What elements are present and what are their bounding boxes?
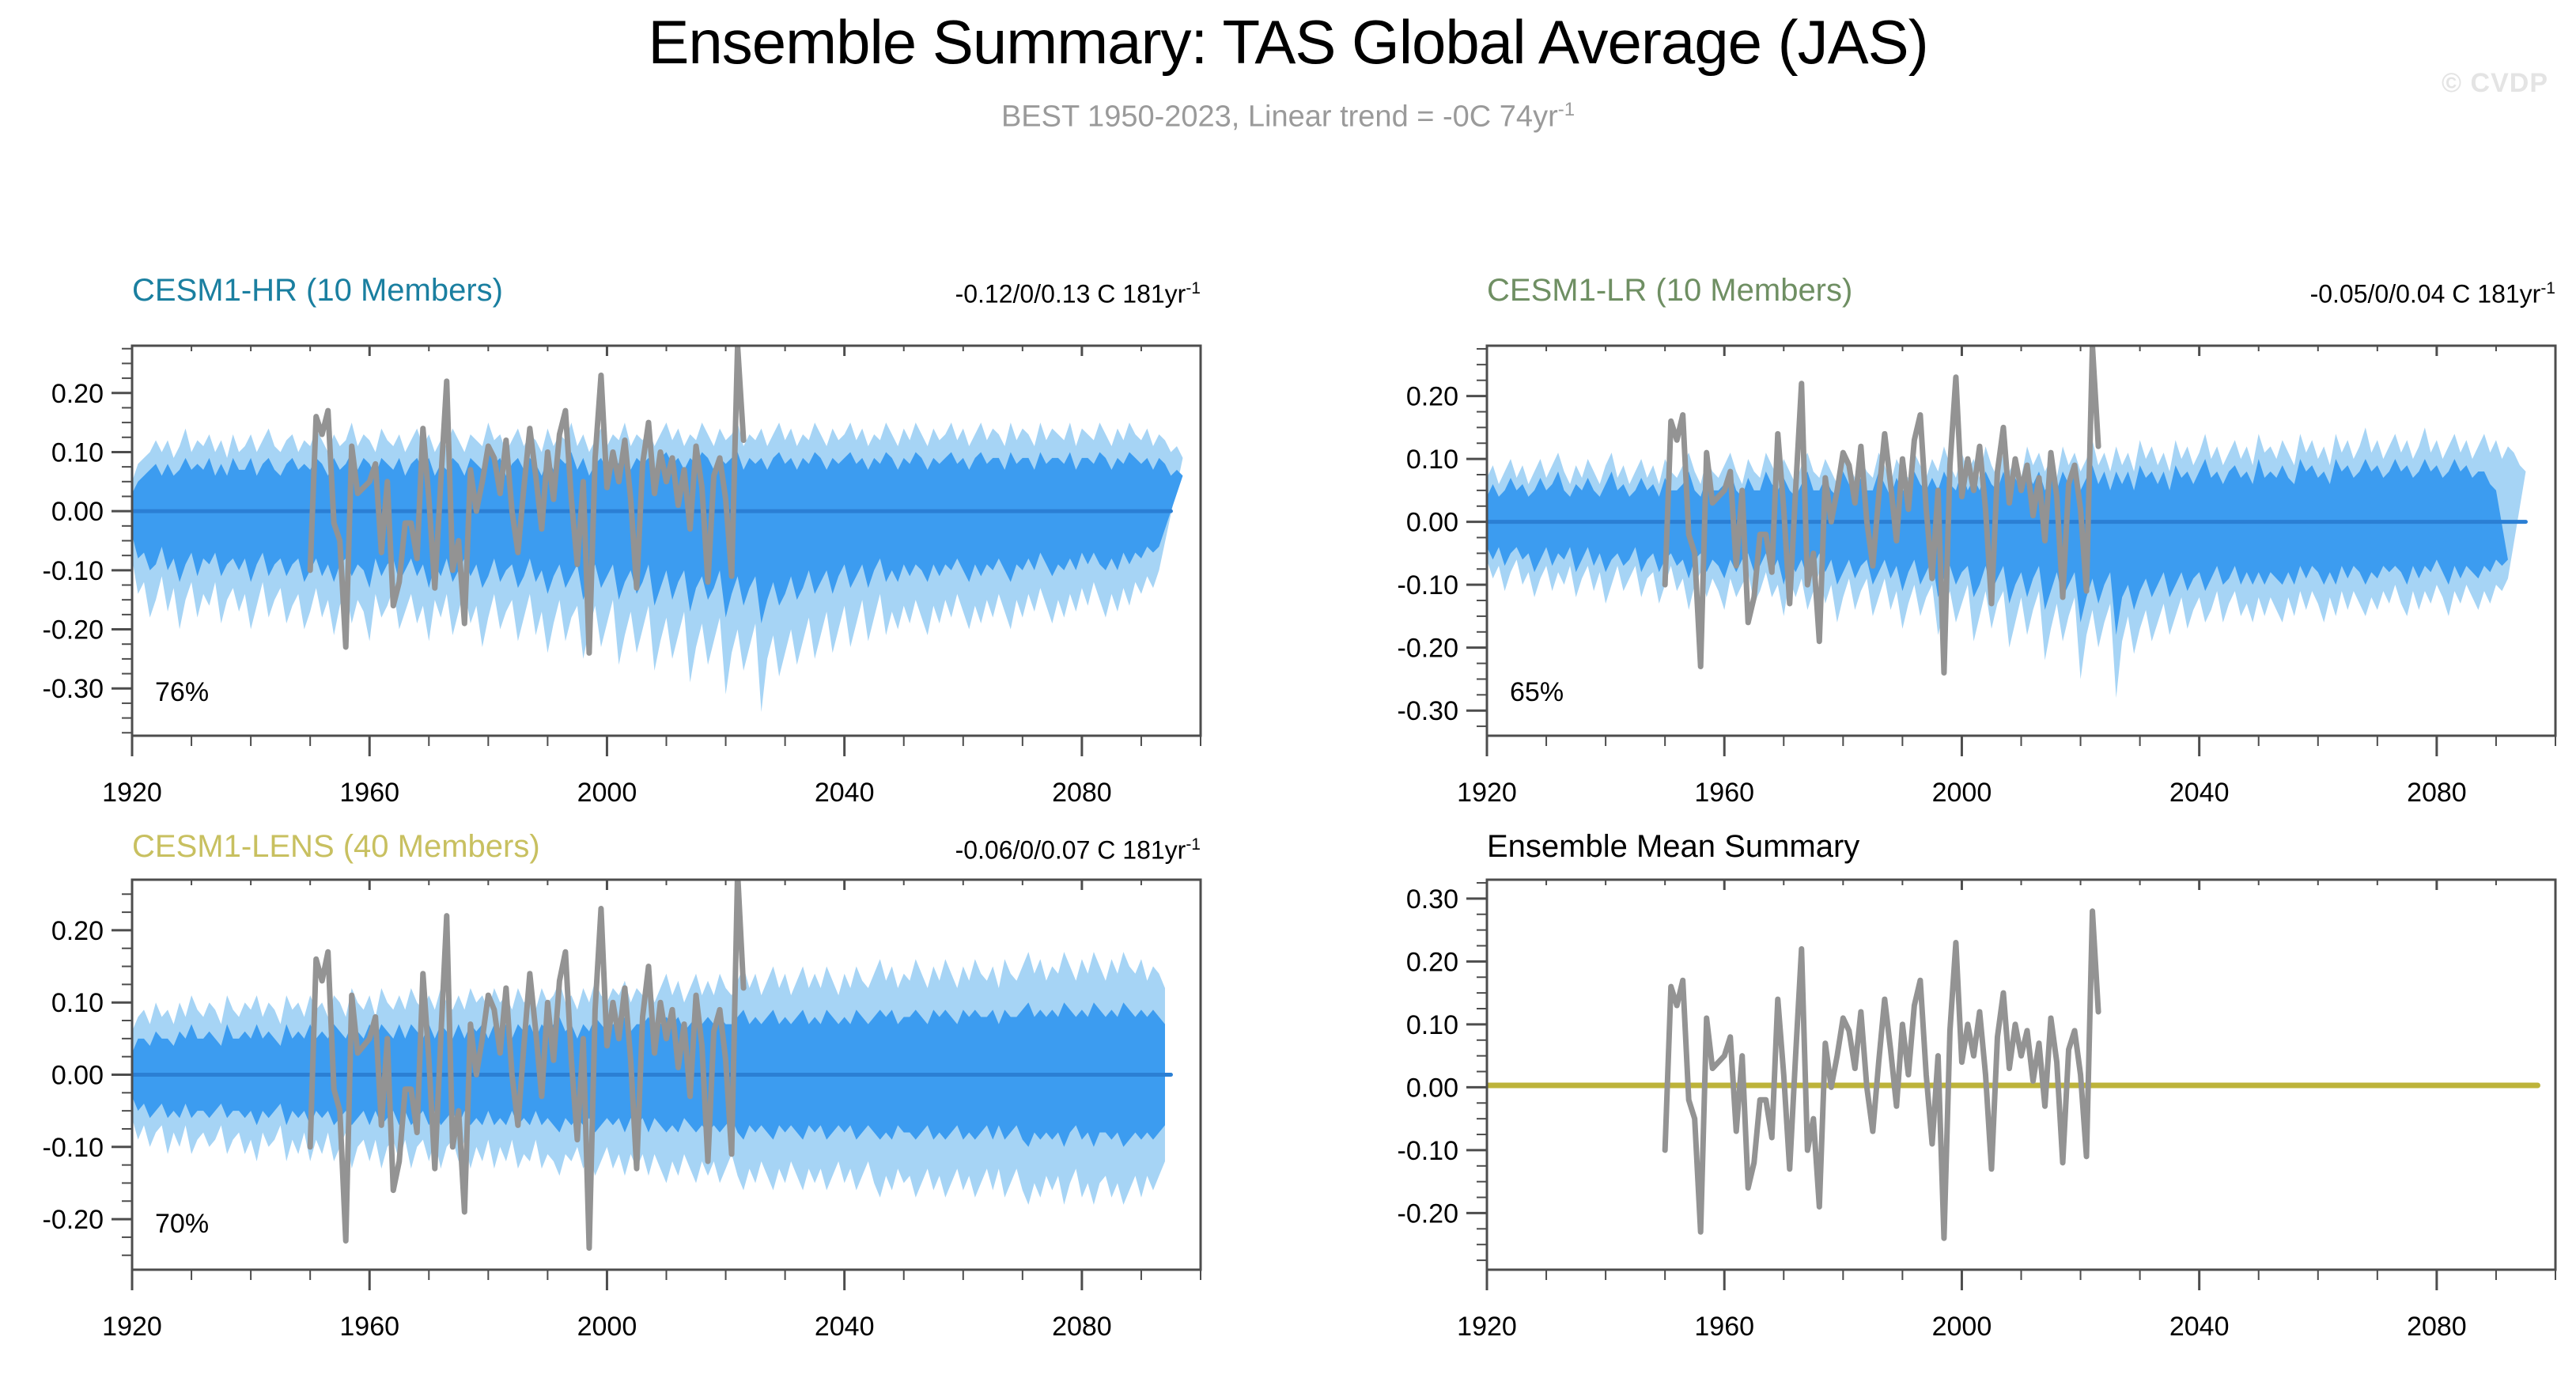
y-tick-label: -0.10 [1398,1136,1459,1166]
y-tick-label: 0.10 [51,988,104,1018]
x-tick-label: 1920 [1457,1312,1517,1342]
y-tick-label: 0.20 [1406,382,1458,412]
x-tick-label: 1920 [102,778,162,808]
trend-value: -0.06/0/0.07 C 181yr [955,836,1186,865]
y-tick-label: 0.00 [1406,508,1458,538]
y-tick-label: 0.00 [51,1061,104,1091]
trend-value: -0.05/0/0.04 C 181yr [2310,280,2541,309]
plot-frame [1487,880,2555,1270]
y-tick-label: -0.20 [1398,634,1459,664]
y-tick-label: 0.10 [1406,1010,1458,1040]
panel-trend-cesm1-lr: -0.05/0/0.04 C 181yr-1 [0,279,2555,309]
plot-cesm1-hr: 192019602000204020800.200.100.00-0.10-0.… [29,335,1212,815]
panel-title-ensemble-mean-summary: Ensemble Mean Summary [1487,829,1859,865]
x-tick-label: 2000 [1932,778,1992,808]
plot-cesm1-lens: 192019602000204020800.200.100.00-0.10-0.… [29,869,1212,1349]
trend-exponent: -1 [1186,835,1201,854]
x-tick-label: 2040 [815,1312,875,1342]
page-subtitle-exponent: -1 [1558,99,1575,120]
x-tick-label: 2000 [577,1312,637,1342]
cvdp-watermark: © CVDP [2442,68,2548,99]
y-tick-label: 0.00 [1406,1073,1458,1103]
page-title: Ensemble Summary: TAS Global Average (JA… [0,6,2576,78]
x-tick-label: 2040 [2169,778,2230,808]
x-tick-label: 1960 [339,1312,399,1342]
x-tick-label: 1960 [339,778,399,808]
x-tick-label: 2080 [1052,778,1112,808]
y-tick-label: 0.20 [1406,947,1458,977]
x-tick-label: 2080 [2407,778,2467,808]
x-tick-label: 2080 [2407,1312,2467,1342]
y-tick-label: -0.20 [43,615,104,646]
x-tick-label: 2040 [815,778,875,808]
series-observations [1665,911,2098,1238]
y-tick-label: 0.10 [51,437,104,468]
page-subtitle: BEST 1950-2023, Linear trend = -0C 74yr-… [0,99,2576,134]
trend-exponent: -1 [2540,279,2555,297]
y-tick-label: -0.10 [43,1133,104,1163]
page-subtitle-text: BEST 1950-2023, Linear trend = -0C 74yr [1001,100,1558,134]
y-tick-label: -0.30 [1398,696,1459,726]
plot-cesm1-lr: 192019602000204020800.200.100.00-0.10-0.… [1384,335,2567,815]
y-tick-label: 0.30 [1406,884,1458,915]
x-tick-label: 2000 [577,778,637,808]
x-tick-label: 1960 [1694,778,1754,808]
y-tick-label: -0.10 [43,556,104,586]
y-tick-label: 0.20 [51,916,104,946]
plot-ensemble-mean-summary: 192019602000204020800.300.200.100.00-0.1… [1384,869,2567,1349]
x-tick-label: 1920 [1457,778,1517,808]
x-tick-label: 1920 [102,1312,162,1342]
y-tick-label: 0.00 [51,497,104,527]
y-tick-label: -0.20 [1398,1199,1459,1229]
x-tick-label: 1960 [1694,1312,1754,1342]
y-tick-label: 0.10 [1406,445,1458,475]
y-tick-label: -0.20 [43,1205,104,1235]
x-tick-label: 2040 [2169,1312,2230,1342]
y-tick-label: -0.10 [1398,570,1459,600]
y-tick-label: -0.30 [43,674,104,704]
y-tick-label: 0.20 [51,379,104,409]
x-tick-label: 2000 [1932,1312,1992,1342]
x-tick-label: 2080 [1052,1312,1112,1342]
panel-trend-cesm1-lens: -0.06/0/0.07 C 181yr-1 [0,835,1201,865]
